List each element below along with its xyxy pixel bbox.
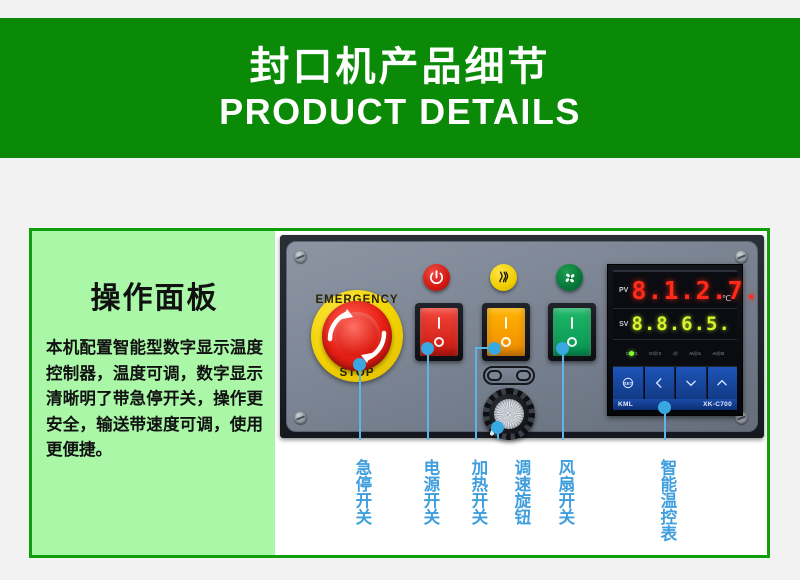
model-label: XK-C700: [703, 401, 732, 408]
info-panel-title: 操作面板: [46, 273, 263, 317]
led-out2: OUT2: [649, 351, 661, 356]
callout-temperature-controller: 智能温控表: [658, 459, 675, 542]
plate-hole: [487, 370, 502, 381]
pv-display-row: PV 8.1.2.7. ℃: [613, 272, 737, 309]
chevron-down-icon: [684, 376, 698, 390]
down-button[interactable]: [676, 367, 707, 399]
plate-hole: [516, 370, 531, 381]
callout-dot-heating-switch: [488, 342, 501, 355]
callout-line-emergency-stop: [359, 364, 361, 440]
screw-icon: [294, 250, 307, 263]
sv-label: SV: [619, 321, 628, 328]
header-title-cn: 封口机产品细节: [250, 46, 551, 88]
left-button[interactable]: [645, 367, 676, 399]
header-title-en: PRODUCT DETAILS: [219, 94, 581, 130]
sv-display-row: SV 8.8.6.5.: [613, 309, 737, 340]
info-panel-body: 本机配置智能型数字显示温度控制器，温度可调，数字显示清晰明了带急停开关，操作更安…: [46, 335, 263, 463]
callout-heating-switch: 加热开关: [469, 459, 486, 525]
heat-icon: [490, 264, 517, 291]
sv-value: 8.8.6.5.: [631, 313, 731, 335]
indicator-led-row: OUT1 OUT2 AT ALM1: [613, 340, 737, 367]
callout-dot-fan-switch: [556, 342, 569, 355]
callout-power-switch: 电源开关: [421, 459, 438, 525]
panel-plate: EMERGENCY STOP: [286, 241, 758, 432]
led-alm1: ALM1: [689, 351, 701, 356]
chevron-up-icon: [715, 376, 729, 390]
unit-label: ℃: [722, 294, 731, 303]
controller-brand-bar: KML XK-C700: [613, 399, 737, 410]
callout-line-heating-switch: [475, 348, 477, 440]
fan-icon: [556, 264, 583, 291]
callout-line-power-switch: [427, 348, 429, 440]
led-alm2: ALM2: [712, 351, 724, 356]
screw-icon: [294, 411, 307, 424]
callout-speed-knob: 调速旋钮: [512, 459, 529, 525]
speed-adjust-knob[interactable]: [483, 388, 535, 440]
callout-emergency-stop: 急停开关: [353, 459, 370, 525]
control-panel-photo: EMERGENCY STOP: [275, 231, 767, 555]
controller-button-row[interactable]: SET: [613, 367, 737, 399]
pv-value: 8.1.2.7.: [631, 276, 759, 305]
svg-text:SET: SET: [623, 381, 632, 386]
chevron-left-icon: [652, 376, 666, 390]
page-header: 封口机产品细节 PRODUCT DETAILS: [0, 18, 800, 158]
led-at: AT: [672, 351, 678, 356]
callout-line-fan-switch: [562, 348, 564, 440]
temperature-controller[interactable]: PV 8.1.2.7. ℃ SV 8.8.6.5. OUT1: [607, 264, 743, 416]
pv-label: PV: [619, 287, 628, 294]
info-panel: 操作面板 本机配置智能型数字显示温度控制器，温度可调，数字显示清晰明了带急停开关…: [32, 231, 275, 555]
set-button[interactable]: SET: [613, 367, 644, 399]
callout-dot-speed-knob: [491, 421, 504, 434]
brand-label: KML: [618, 401, 633, 408]
led-out1: OUT1: [626, 351, 638, 356]
callout-fan-switch: 风扇开关: [556, 459, 573, 525]
panel-bezel: EMERGENCY STOP: [280, 235, 764, 438]
knob-face-plate: [483, 366, 535, 385]
screw-icon: [735, 250, 748, 263]
callout-dot-temperature-controller: [658, 401, 671, 414]
set-icon: SET: [621, 376, 635, 390]
detail-card: 操作面板 本机配置智能型数字显示温度控制器，温度可调，数字显示清晰明了带急停开关…: [29, 228, 770, 558]
callout-dot-power-switch: [421, 342, 434, 355]
callout-dot-emergency-stop: [353, 358, 366, 371]
fan-rocker-switch[interactable]: [548, 303, 596, 361]
up-button[interactable]: [708, 367, 738, 399]
power-icon: [423, 264, 450, 291]
